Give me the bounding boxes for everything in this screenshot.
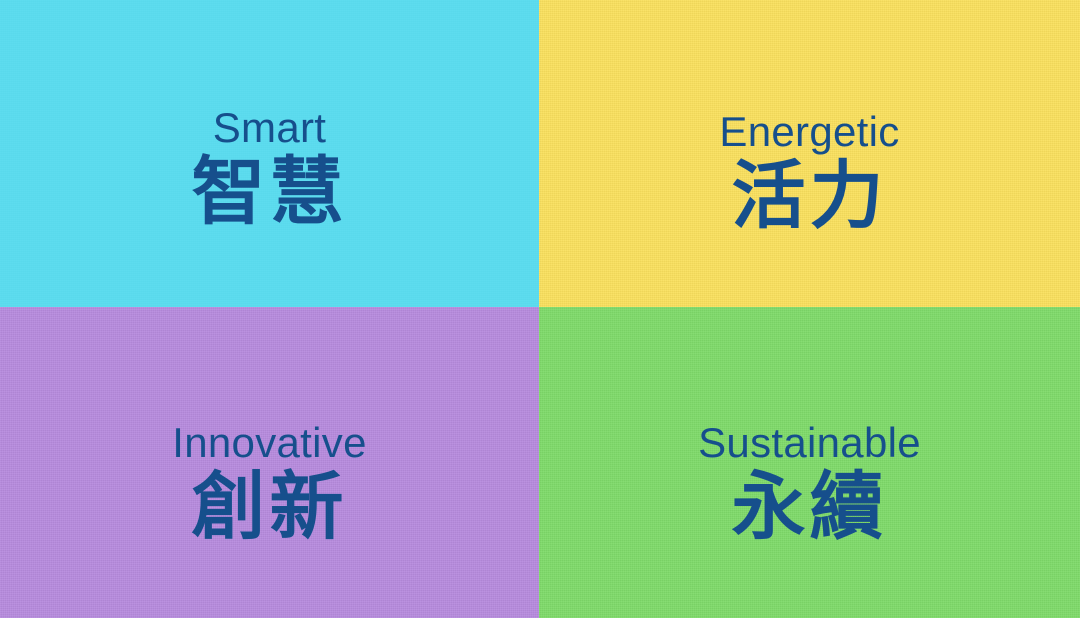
quadrant-energetic: Energetic 活力: [539, 0, 1080, 307]
brand-values-poster: Smart 智慧 Energetic 活力 Innovative 創新 Sust…: [0, 0, 1080, 618]
quadrant-smart-text: Smart 智慧: [192, 107, 348, 229]
quadrant-energetic-chinese: 活力: [731, 159, 887, 233]
quadrant-grid: Smart 智慧 Energetic 活力 Innovative 創新 Sust…: [0, 0, 1080, 618]
quadrant-sustainable: Sustainable 永續: [539, 307, 1080, 618]
quadrant-innovative-chinese: 創新: [192, 470, 348, 544]
quadrant-innovative-english: Innovative: [172, 422, 366, 464]
quadrant-smart-english: Smart: [213, 107, 327, 149]
quadrant-smart: Smart 智慧: [0, 0, 539, 307]
quadrant-sustainable-text: Sustainable 永續: [698, 422, 921, 544]
quadrant-innovative-text: Innovative 創新: [172, 422, 366, 544]
quadrant-energetic-text: Energetic 活力: [719, 111, 899, 233]
quadrant-energetic-english: Energetic: [719, 111, 899, 153]
quadrant-sustainable-chinese: 永續: [731, 470, 887, 544]
quadrant-smart-chinese: 智慧: [192, 155, 348, 229]
quadrant-sustainable-english: Sustainable: [698, 422, 921, 464]
quadrant-innovative: Innovative 創新: [0, 307, 539, 618]
